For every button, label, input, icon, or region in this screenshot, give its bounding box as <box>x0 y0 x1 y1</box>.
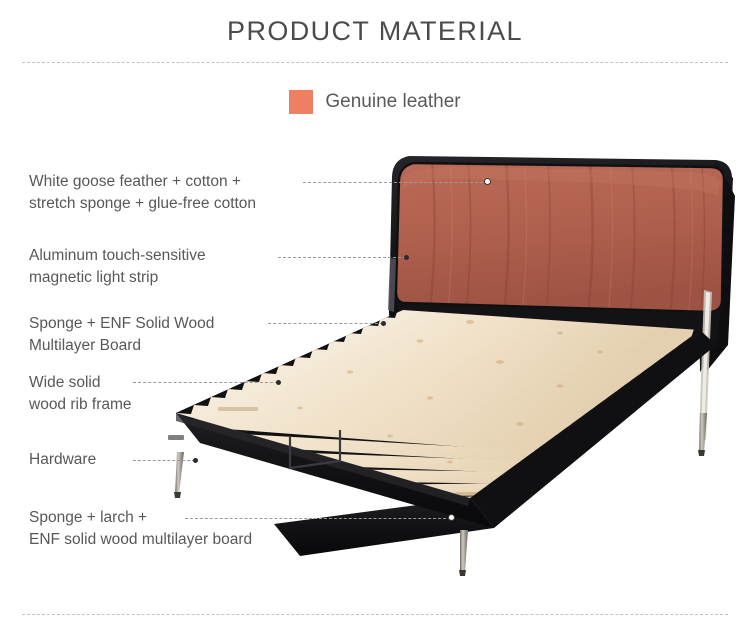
annotation-headboard-board: Sponge + ENF Solid Wood Multilayer Board <box>29 313 214 357</box>
annotation-line-2: stretch sponge + glue-free cotton <box>29 193 256 215</box>
leg-front-left <box>175 452 184 494</box>
magnetic-light-strip <box>699 290 712 440</box>
annotation-headboard-filling: White goose feather + cotton + stretch s… <box>29 171 256 215</box>
leader-line-hardware <box>133 460 195 461</box>
headboard-cushion <box>396 160 724 319</box>
brand-badge <box>168 435 184 440</box>
legend-swatch-genuine-leather <box>289 90 313 114</box>
leader-line-headboard-board <box>268 323 383 324</box>
page-title: PRODUCT MATERIAL <box>0 16 750 47</box>
annotation-hardware: Hardware <box>29 449 96 471</box>
leader-endpoint-rib-frame <box>276 380 281 385</box>
wood-slat-frame <box>150 295 730 525</box>
annotation-line-2: ENF solid wood multilayer board <box>29 529 252 551</box>
annotation-base-board: Sponge + larch + ENF solid wood multilay… <box>29 507 252 551</box>
legend: Genuine leather <box>0 90 750 114</box>
product-material-infographic: PRODUCT MATERIAL Genuine leather <box>0 0 750 633</box>
leader-endpoint-base-board <box>448 514 455 521</box>
leader-endpoint-light-strip <box>404 255 409 260</box>
leader-line-base-board <box>185 518 451 519</box>
leader-endpoint-hardware <box>193 458 198 463</box>
annotation-light-strip: Aluminum touch-sensitive magnetic light … <box>29 245 206 289</box>
headboard-left-edge-strip <box>388 258 396 312</box>
divider-top <box>22 62 728 63</box>
annotation-line-2: wood rib frame <box>29 394 132 416</box>
leader-line-headboard-filling <box>303 182 488 183</box>
headboard-shell <box>389 156 735 372</box>
leader-line-rib-frame <box>133 382 278 383</box>
annotation-line-1: Sponge + ENF Solid Wood <box>29 313 214 335</box>
legend-label: Genuine leather <box>325 91 460 113</box>
leader-endpoint-headboard-filling <box>484 178 491 185</box>
annotation-line-2: magnetic light strip <box>29 267 206 289</box>
bed-base-frame <box>176 310 716 556</box>
annotation-line-1: Hardware <box>29 449 96 471</box>
annotation-line-1: Aluminum touch-sensitive <box>29 245 206 267</box>
annotation-line-2: Multilayer Board <box>29 335 214 357</box>
leader-endpoint-headboard-board <box>381 321 386 326</box>
annotation-line-1: White goose feather + cotton + <box>29 171 256 193</box>
annotation-line-1: Wide solid <box>29 372 132 394</box>
leg-back-right <box>699 413 707 452</box>
slat-support-bracket <box>290 430 340 468</box>
divider-bottom <box>22 614 728 615</box>
leg-front-right <box>460 530 468 572</box>
bed-legs <box>174 413 707 576</box>
leader-line-light-strip <box>278 257 406 258</box>
annotation-rib-frame: Wide solid wood rib frame <box>29 372 132 416</box>
